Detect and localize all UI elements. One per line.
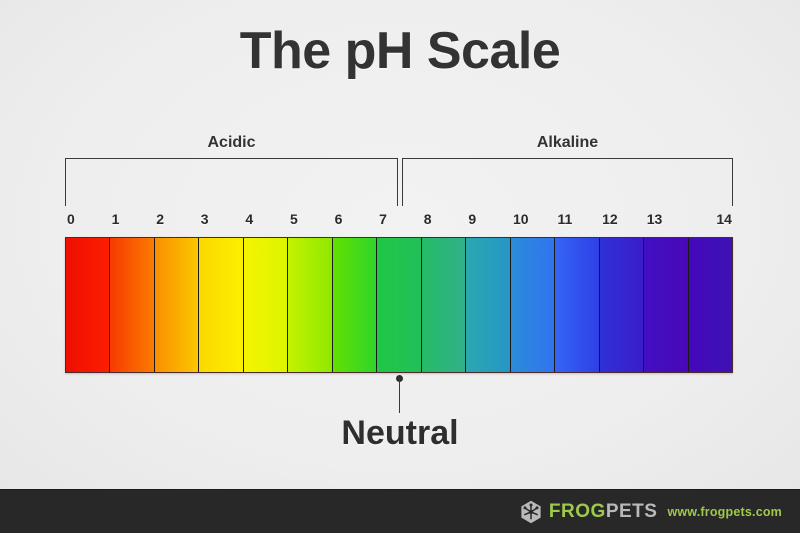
brand-text-pets: PETS: [606, 501, 658, 522]
ph-segment-3: [199, 238, 243, 372]
ph-segment-6: [333, 238, 377, 372]
ph-segment-8: [422, 238, 466, 372]
ph-tick-5: 5: [288, 211, 333, 233]
ph-tick-9: 9: [466, 211, 511, 233]
page-title: The pH Scale: [0, 24, 800, 79]
brand-text: FROGPETS: [549, 502, 658, 521]
frog-hex-icon: [520, 500, 542, 524]
alkaline-bracket: [402, 158, 733, 206]
brand-lockup[interactable]: FROGPETS: [520, 500, 658, 524]
ph-tick-7: 7: [377, 211, 422, 233]
acidic-label: Acidic: [65, 134, 398, 152]
ph-segment-5: [288, 238, 332, 372]
ph-segment-9: [466, 238, 510, 372]
ph-tick-row: 01234567891011121314: [65, 211, 733, 233]
ph-tick-4: 4: [243, 211, 288, 233]
ph-segment-13: [644, 238, 688, 372]
ph-segment-10: [511, 238, 555, 372]
ph-tick-3: 3: [199, 211, 244, 233]
ph-segment-1: [110, 238, 154, 372]
ph-segment-11: [555, 238, 599, 372]
ph-segment-0: [66, 238, 110, 372]
ph-tick-14: 14: [689, 211, 733, 233]
ph-tick-11: 11: [556, 211, 601, 233]
neutral-label: Neutral: [0, 414, 800, 453]
acidic-bracket: [65, 158, 398, 206]
ph-tick-10: 10: [511, 211, 556, 233]
ph-tick-8: 8: [422, 211, 467, 233]
ph-segment-2: [155, 238, 199, 372]
ph-color-bar: [65, 237, 733, 373]
brand-text-frog: FROG: [549, 501, 606, 522]
ph-segment-4: [244, 238, 288, 372]
ph-tick-0: 0: [65, 211, 110, 233]
ph-tick-6: 6: [333, 211, 378, 233]
footer-bar: FROGPETS www.frogpets.com: [0, 489, 800, 533]
neutral-pointer-line: [399, 378, 400, 413]
ph-tick-1: 1: [110, 211, 155, 233]
ph-tick-12: 12: [600, 211, 645, 233]
ph-segment-12: [600, 238, 644, 372]
alkaline-label: Alkaline: [402, 134, 733, 152]
ph-segment-7: [377, 238, 421, 372]
ph-tick-2: 2: [154, 211, 199, 233]
ph-segment-14: [689, 238, 732, 372]
footer-url-link[interactable]: www.frogpets.com: [667, 505, 782, 519]
ph-tick-13: 13: [645, 211, 690, 233]
